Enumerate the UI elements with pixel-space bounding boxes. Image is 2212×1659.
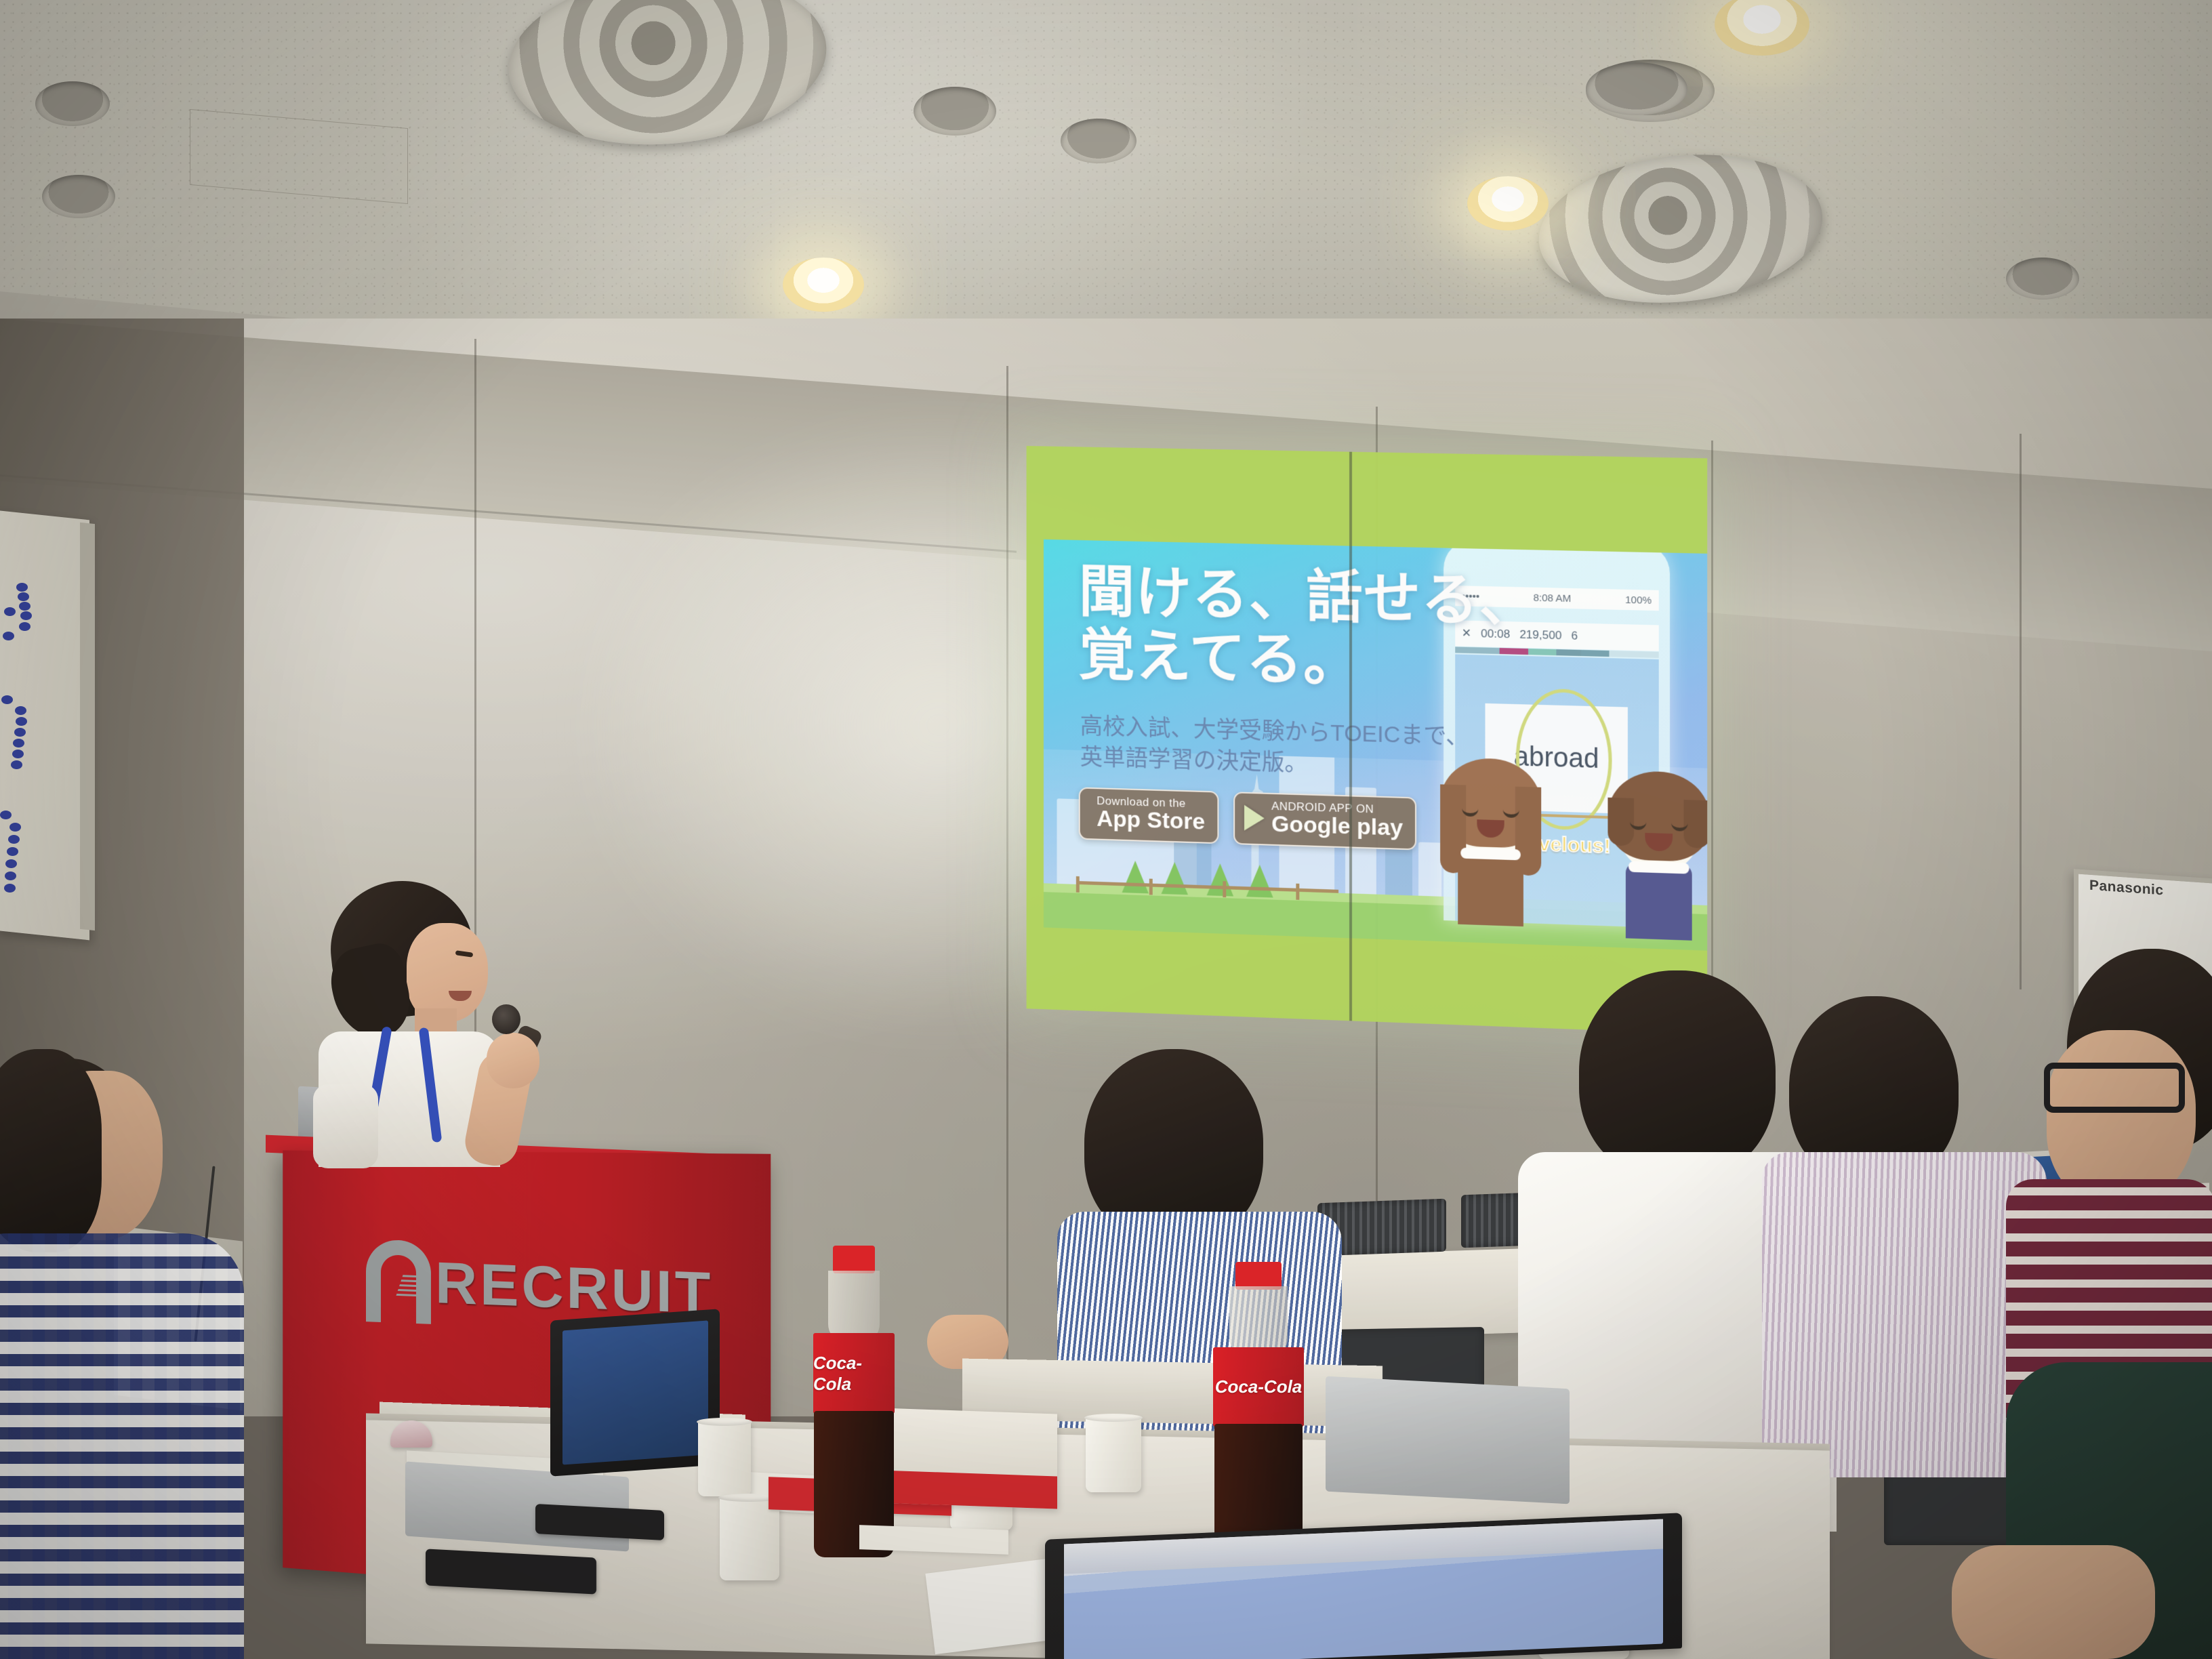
- sticker-dot: [16, 583, 28, 592]
- presenter-face: [407, 923, 488, 1022]
- ceiling-downlight-off: [1061, 119, 1136, 163]
- sticker-dot: [18, 592, 29, 601]
- coca-cola-label: Coca-Cola: [813, 1333, 895, 1414]
- sticker-dot: [15, 706, 26, 715]
- sticker-dot: [0, 811, 12, 819]
- sticker-dot: [14, 728, 26, 737]
- food-box-strip: [881, 1471, 1057, 1509]
- food-box: [881, 1408, 1057, 1509]
- sticker-dot: [9, 823, 21, 832]
- sticker-dot: [12, 750, 24, 758]
- recruit-mark-icon: [366, 1239, 431, 1324]
- ceiling-downlight-on: [783, 258, 864, 312]
- attendee-head: [1579, 970, 1776, 1181]
- coca-cola-bottle[interactable]: Coca-Cola: [1210, 1262, 1307, 1567]
- sticker-dot: [4, 884, 16, 893]
- coca-cola-label: Coca-Cola: [1213, 1347, 1303, 1427]
- presenter-hand: [487, 1033, 539, 1088]
- food-contents: [895, 1420, 1043, 1474]
- sticker-dot: [3, 632, 14, 640]
- napkin: [925, 1558, 1063, 1654]
- sticker-dot: [1, 695, 13, 704]
- whiteboard-brand-label: Panasonic: [2089, 878, 2164, 899]
- sticker-dot: [13, 739, 24, 747]
- sticker-dot: [20, 611, 32, 620]
- sticker-dot: [7, 847, 18, 856]
- presenter-sleeve: [313, 1084, 378, 1168]
- ceiling-downlight-off: [1586, 62, 1687, 115]
- flipchart-edge: [80, 523, 95, 930]
- phone-battery: 100%: [1625, 594, 1652, 607]
- phone-combo: 6: [1572, 629, 1578, 642]
- attendee-torso: [0, 1233, 244, 1659]
- sticker-dot: [19, 602, 30, 611]
- ceiling-downlight-off: [914, 87, 996, 136]
- store-badges: Download on the App Store ANDROID APP ON…: [1079, 787, 1416, 850]
- phone-time: 8:08 AM: [1534, 592, 1572, 604]
- glasses-icon: [2044, 1063, 2185, 1113]
- slide-headline: 聞ける、話せる、 覚えてる。: [1079, 559, 1537, 699]
- ceiling-downlight-on: [1467, 176, 1549, 230]
- paper-cup[interactable]: [698, 1420, 751, 1496]
- google-play-badge-label: Google play: [1271, 813, 1403, 841]
- projected-slide: ••••• 8:08 AM 100% ✕ 00:08 219,500 6: [1027, 446, 1708, 1034]
- attendee-hair: [0, 1049, 102, 1252]
- sticker-dot: [5, 872, 16, 880]
- attendee-torso: [1762, 1152, 2047, 1477]
- sticker-dot: [8, 835, 20, 844]
- sticker-dot: [16, 717, 27, 726]
- coca-cola-bottle[interactable]: Coca-Cola: [811, 1246, 897, 1557]
- paper-cup[interactable]: [1086, 1416, 1141, 1492]
- slide-subheadline: 高校入試、大学受験からTOEICまで、 英単語学習の決定版。: [1080, 711, 1469, 784]
- sticker-dot: [19, 622, 30, 631]
- screen-panel-gap: [1349, 452, 1352, 1021]
- microphone-icon: [492, 1004, 520, 1034]
- ceiling-downlight-off: [42, 175, 115, 218]
- mascot-girl: [1450, 764, 1532, 937]
- sticker-dot: [5, 859, 17, 868]
- papers: [859, 1525, 1008, 1555]
- app-store-badge[interactable]: Download on the App Store: [1079, 787, 1218, 844]
- app-store-badge-label: App Store: [1097, 807, 1205, 834]
- bottle-cap: [1235, 1262, 1282, 1290]
- tablet-device[interactable]: [550, 1309, 720, 1476]
- conference-room-photo: ••••• 8:08 AM 100% ✕ 00:08 219,500 6: [0, 0, 2212, 1659]
- attendee-corner-arm: [1952, 1545, 2155, 1659]
- wall-partition-seam: [2020, 434, 2022, 989]
- presenter: [271, 881, 515, 1166]
- google-play-icon: [1244, 804, 1264, 831]
- bottle-neck: [828, 1271, 880, 1339]
- sticker-dot: [4, 607, 16, 616]
- ceiling-downlight-off: [2006, 258, 2079, 300]
- sticker-dot: [11, 760, 22, 769]
- google-play-badge[interactable]: ANDROID APP ON Google play: [1233, 792, 1416, 851]
- ceiling-downlight-off: [35, 81, 110, 126]
- bottle-cap: [833, 1246, 874, 1273]
- mascot-boy: [1618, 777, 1700, 943]
- slide-content-panel: ••••• 8:08 AM 100% ✕ 00:08 219,500 6: [1044, 539, 1707, 951]
- silver-laptop[interactable]: [1326, 1376, 1570, 1504]
- bottle-neck: [1229, 1286, 1287, 1353]
